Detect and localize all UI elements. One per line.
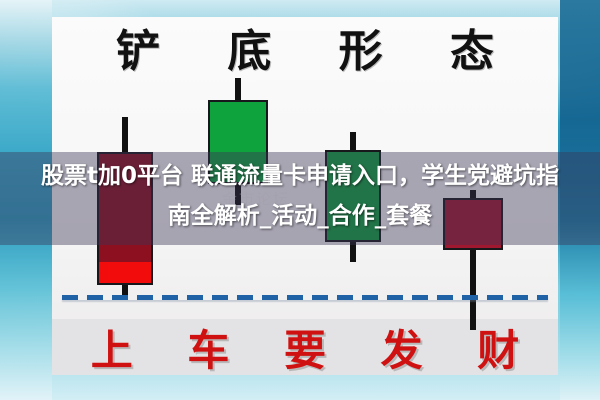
candle-1-accent-segment [97, 262, 153, 283]
chart-slogan: 上 车 要 发 财 [52, 322, 558, 372]
caption-text: 股票t加0平台 联通流量卡申请入口，学生党避坑指 南全解析_活动_合作_套餐 [0, 156, 600, 236]
chart-headline: 铲 底 形 态 [52, 20, 558, 74]
caption-line-2: 南全解析_活动_合作_套餐 [0, 196, 600, 236]
screenshot-canvas: 铲 底 形 态 金市论坛 上 车 要 发 财 股票t加0平台 联通流量卡申请入口… [0, 0, 600, 400]
dashed-support-line [62, 295, 548, 300]
caption-line-1: 股票t加0平台 联通流量卡申请入口，学生党避坑指 [0, 156, 600, 196]
